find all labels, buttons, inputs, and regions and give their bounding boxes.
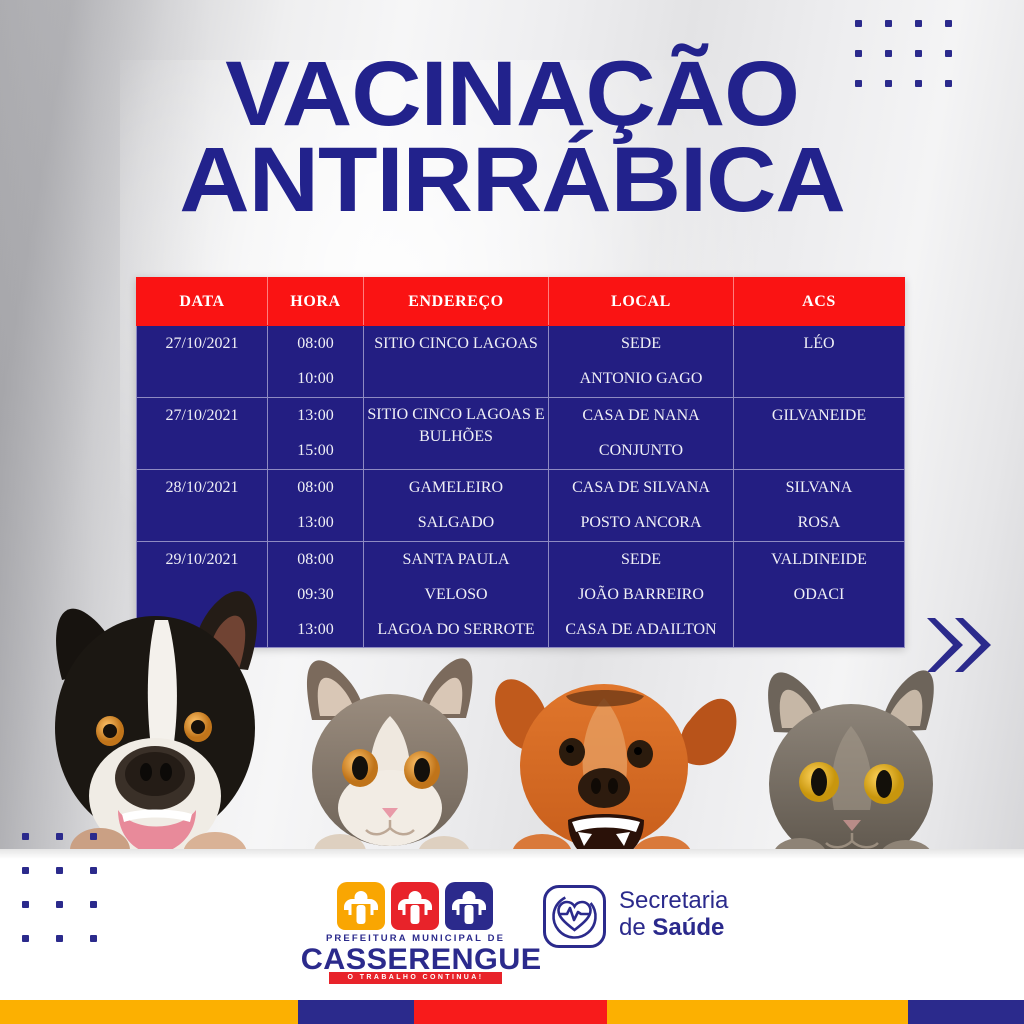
cell-acs: GILVANEIDE [734,398,905,470]
secretaria-label: Secretaria de Saúde [619,887,728,941]
table-header-row: DATA HORA ENDEREÇO LOCAL ACS [137,278,905,326]
prefeitura-slogan: O TRABALHO CONTINUA! [329,972,502,984]
bar-segment-1 [0,1000,298,1024]
bar-segment-4 [607,1000,908,1024]
animal-golden-dog [495,679,736,860]
animal-photo-row [0,520,1024,860]
logo-row: PREFEITURA MUNICIPAL DE CASSERENGUE O TR… [0,882,1024,982]
cell-local: SEDE ANTONIO GAGO [549,326,734,398]
animal-tabby-kitten [307,658,472,860]
page-title: VACINAÇÃO ANTIRRÁBICA [0,52,1024,223]
cell-data: 27/10/2021 [137,326,268,398]
figure-blue-icon [445,882,493,930]
cell-acs: LÉO [734,326,905,398]
bar-segment-2 [298,1000,414,1024]
secretaria-line-1: Secretaria [619,887,728,914]
cell-hora: 13:00 15:00 [268,398,364,470]
title-line-1: VACINAÇÃO [0,52,1024,138]
heart-pulse-icon [543,885,606,948]
column-header-hora: HORA [268,278,364,326]
prefeitura-casserengue-logo: PREFEITURA MUNICIPAL DE CASSERENGUE O TR… [303,882,528,974]
secretaria-line-2: de Saúde [619,914,728,941]
title-line-2: ANTIRRÁBICA [0,138,1024,224]
cell-local: CASA DE NANA CONJUNTO [549,398,734,470]
column-header-endereco: ENDEREÇO [364,278,549,326]
animal-black-white-dog [55,591,257,860]
bar-segment-3 [414,1000,607,1024]
figure-red-icon [391,882,439,930]
column-header-acs: ACS [734,278,905,326]
shelf-shadow [0,849,1024,859]
column-header-local: LOCAL [549,278,734,326]
secretaria-de-saude-logo: Secretaria de Saúde [543,881,773,961]
animal-grey-tabby-cat [768,670,934,860]
column-header-data: DATA [137,278,268,326]
bar-segment-5 [908,1000,1024,1024]
figure-yellow-icon [337,882,385,930]
cell-endereco: SITIO CINCO LAGOAS [364,326,549,398]
cell-endereco: SITIO CINCO LAGOAS E BULHÕES [364,398,549,470]
cell-hora: 08:00 10:00 [268,326,364,398]
cell-data: 27/10/2021 [137,398,268,470]
vaccination-poster: VACINAÇÃO ANTIRRÁBICA DATA HORA ENDEREÇO… [0,0,1024,1024]
table-row: 27/10/2021 13:00 15:00 SITIO CINCO LAGOA… [137,398,905,470]
prefeitura-figures-icon [337,882,493,930]
footer-color-bar [0,1000,1024,1024]
table-row: 27/10/2021 08:00 10:00 SITIO CINCO LAGOA… [137,326,905,398]
